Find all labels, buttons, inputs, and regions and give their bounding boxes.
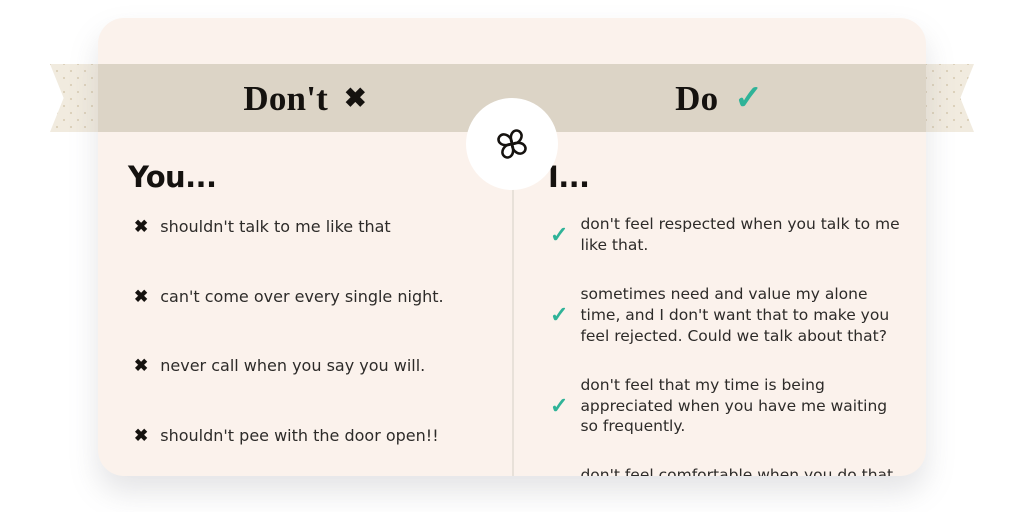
list-item-text: don't feel comfortable when you do that … (580, 465, 906, 476)
check-bullet-icon: ✓ (550, 475, 568, 476)
cross-mark-icon: ✖ (344, 85, 367, 112)
list-item-text: sometimes need and value my alone time, … (580, 284, 906, 347)
list-item: ✓ don't feel respected when you talk to … (548, 214, 906, 256)
column-do: I... ✓ don't feel respected when you tal… (512, 132, 926, 476)
list-item: ✖ never call when you say you will. (128, 355, 486, 377)
list-item-text: don't feel respected when you talk to me… (580, 214, 906, 256)
do-list: ✓ don't feel respected when you talk to … (548, 214, 906, 476)
check-bullet-icon: ✓ (550, 224, 568, 246)
header-do-title: Do (675, 81, 718, 116)
list-item-text: shouldn't pee with the door open!! (160, 425, 438, 447)
clover-knot-logo-icon (491, 123, 533, 165)
list-item: ✓ sometimes need and value my alone time… (548, 284, 906, 347)
check-bullet-icon: ✓ (550, 395, 568, 417)
check-bullet-icon: ✓ (550, 304, 568, 326)
cross-bullet-icon: ✖ (134, 288, 148, 305)
list-item: ✓ don't feel that my time is being appre… (548, 375, 906, 438)
list-item: ✓ don't feel comfortable when you do tha… (548, 465, 906, 476)
cross-bullet-icon: ✖ (134, 357, 148, 374)
header-dont-title: Don't (243, 81, 328, 116)
column-do-heading: I... (548, 160, 906, 194)
list-item-text: shouldn't talk to me like that (160, 216, 390, 238)
list-item: ✖ shouldn't pee with the door open!! (128, 425, 486, 447)
list-item-text: never call when you say you will. (160, 355, 425, 377)
logo-badge (466, 98, 558, 190)
infographic-stage: Don't ✖ Do ✓ (0, 0, 1024, 512)
dont-list: ✖ shouldn't talk to me like that ✖ can't… (128, 216, 486, 446)
header-dont: Don't ✖ (98, 64, 512, 132)
comparison-card: Don't ✖ Do ✓ (98, 18, 926, 476)
list-item: ✖ can't come over every single night. (128, 286, 486, 308)
cross-bullet-icon: ✖ (134, 427, 148, 444)
list-item: ✖ shouldn't talk to me like that (128, 216, 486, 238)
list-item-text: can't come over every single night. (160, 286, 443, 308)
column-dont: You... ✖ shouldn't talk to me like that … (98, 132, 512, 476)
list-item-text: don't feel that my time is being appreci… (580, 375, 906, 438)
column-dont-heading: You... (128, 160, 486, 194)
header-do: Do ✓ (512, 64, 926, 132)
check-mark-icon: ✓ (734, 81, 763, 115)
cross-bullet-icon: ✖ (134, 218, 148, 235)
